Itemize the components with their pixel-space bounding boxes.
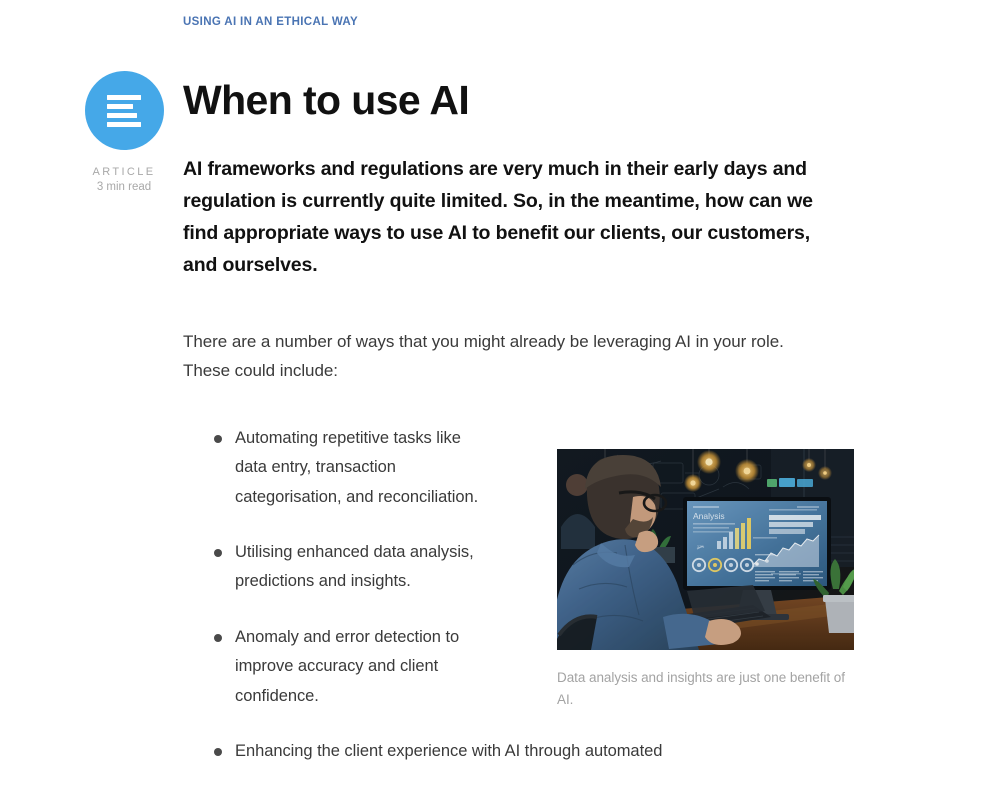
list-item: Automating repetitive tasks like data en… — [183, 424, 493, 512]
page-title: When to use AI — [183, 78, 818, 122]
benefits-list: Automating repetitive tasks like data en… — [183, 424, 493, 766]
list-item: Anomaly and error detection to improve a… — [183, 623, 493, 711]
article-lines-icon — [107, 95, 141, 127]
article-content: When to use AI AI frameworks and regulat… — [183, 78, 818, 386]
figure-photo: Analysis — [557, 449, 854, 650]
figure-caption: Data analysis and insights are just one … — [557, 667, 854, 710]
article-type-label: ARTICLE — [84, 166, 164, 178]
article-lede: AI frameworks and regulations are very m… — [183, 154, 818, 282]
category-eyebrow[interactable]: USING AI IN AN ETHICAL WAY — [183, 16, 358, 28]
list-item: Utilising enhanced data analysis, predic… — [183, 538, 493, 597]
article-intro-paragraph: There are a number of ways that you migh… — [183, 327, 818, 385]
article-page: USING AI IN AN ETHICAL WAY ARTICLE 3 min… — [0, 0, 1000, 810]
article-figure: Analysis — [557, 449, 854, 710]
list-item: Enhancing the client experience with AI … — [183, 737, 823, 766]
read-time-label: 3 min read — [84, 181, 164, 193]
article-meta-rail: ARTICLE 3 min read — [84, 71, 164, 193]
article-type-badge — [85, 71, 164, 150]
